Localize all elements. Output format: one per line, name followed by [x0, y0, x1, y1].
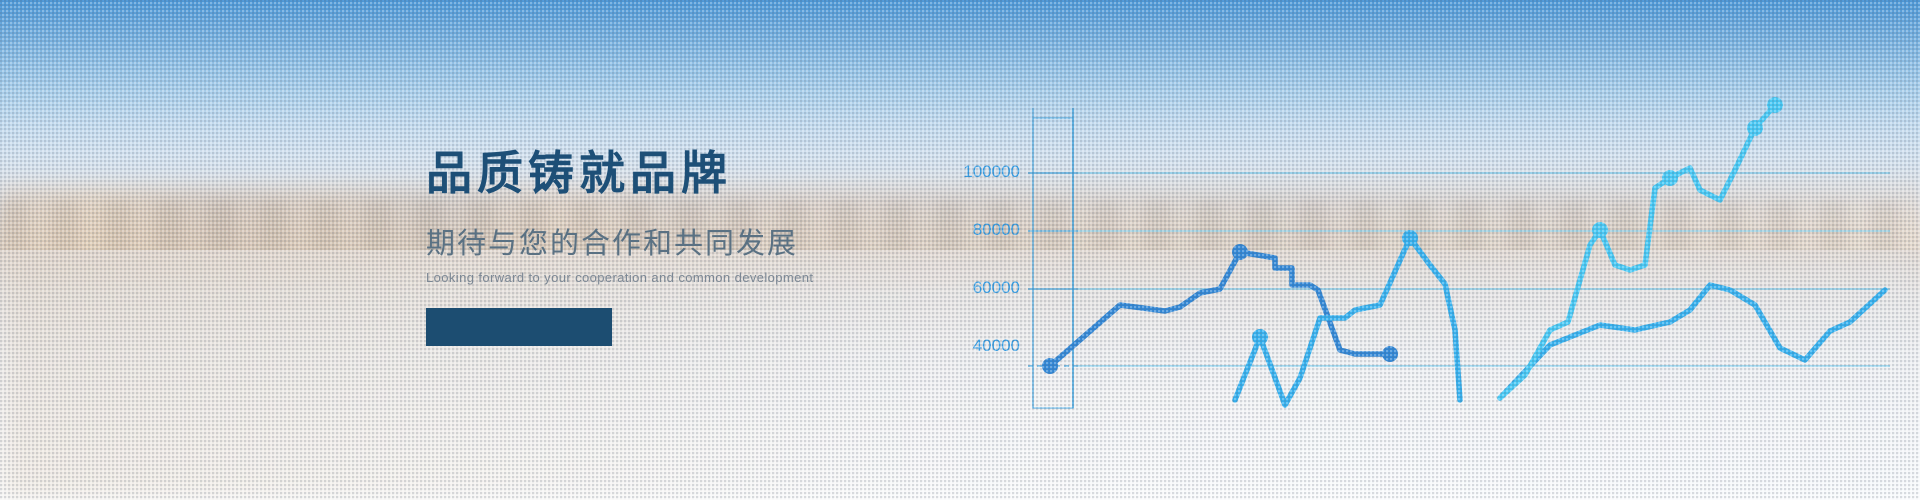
data-point-marker: [1747, 120, 1763, 136]
line-chart: 100000 80000 60000 40000: [900, 0, 1920, 500]
banner-subheadline: 期待与您的合作和共同发展: [426, 230, 1046, 259]
data-point-marker: [1592, 222, 1608, 238]
banner-copy: 品质铸就品牌 期待与您的合作和共同发展 Looking forward to y…: [426, 150, 1046, 284]
series-1-line: [1042, 244, 1398, 374]
banner-subheadline-en: Looking forward to your cooperation and …: [426, 271, 1046, 284]
data-point-marker: [1402, 230, 1418, 246]
line-chart-svg: 100000 80000 60000 40000: [900, 0, 1920, 500]
data-point-marker: [1662, 170, 1678, 186]
hero-banner: 100000 80000 60000 40000: [0, 0, 1920, 500]
data-point-marker: [1232, 244, 1248, 260]
data-point-marker: [1252, 329, 1268, 345]
banner-headline: 品质铸就品牌: [426, 150, 1046, 196]
grid-lines: [1078, 173, 1890, 366]
y-tick-label: 40000: [973, 336, 1020, 355]
data-point-marker: [1767, 97, 1783, 113]
data-point-marker: [1042, 358, 1058, 374]
banner-cta-button[interactable]: [426, 308, 612, 346]
data-point-marker: [1382, 346, 1398, 362]
series-4-line: [1500, 285, 1885, 398]
